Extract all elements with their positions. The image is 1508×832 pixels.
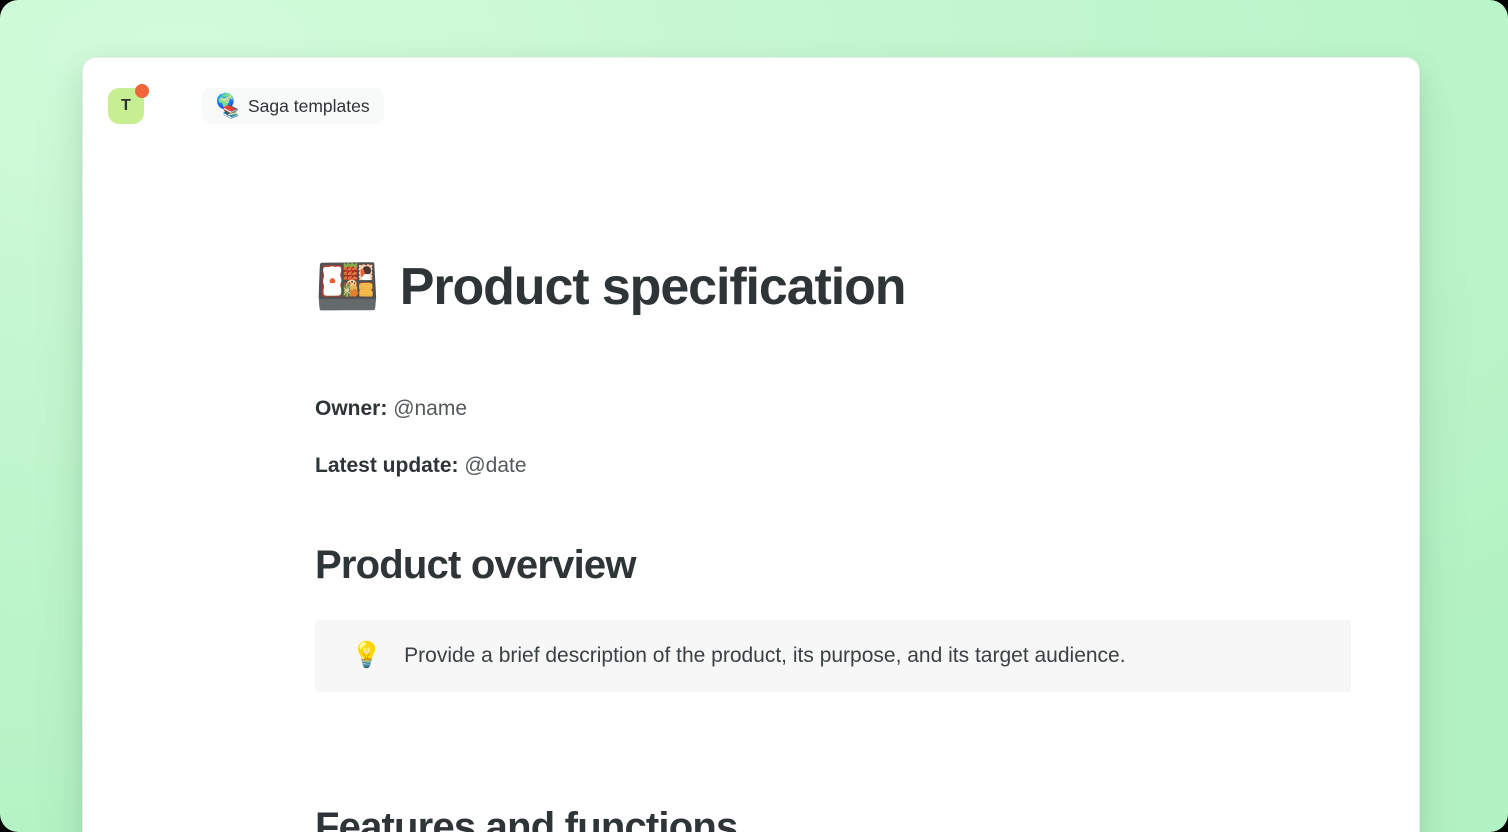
section-heading-features-and-functions[interactable]: Features and functions [315,804,1359,832]
avatar-initial: T [121,97,131,115]
document-metadata: Owner: @name Latest update: @date [315,395,1359,480]
page-background: T 🌍 📚 Saga templates 🍱 Product specifica… [0,0,1508,832]
lightbulb-icon: 💡 [351,643,382,668]
metadata-value-owner[interactable]: @name [393,397,467,420]
notification-dot-icon [135,84,149,98]
metadata-label-latest-update: Latest update: [315,454,459,477]
app-window-card: T 🌍 📚 Saga templates 🍱 Product specifica… [82,57,1420,832]
metadata-row-owner: Owner: @name [315,395,1359,423]
section-heading-product-overview[interactable]: Product overview [315,542,1359,588]
top-bar: T 🌍 📚 Saga templates [83,58,1419,154]
breadcrumb[interactable]: 🌍 📚 Saga templates [202,88,384,124]
page-title-row: 🍱 Product specification [315,258,1359,316]
callout-text[interactable]: Provide a brief description of the produ… [404,641,1125,670]
saga-templates-icon: 🌍 📚 [216,95,238,117]
metadata-value-latest-update[interactable]: @date [464,454,526,477]
metadata-label-owner: Owner: [315,397,387,420]
avatar-container[interactable]: T [108,88,144,124]
stack-layers-icon: 📚 [223,105,239,118]
breadcrumb-label: Saga templates [248,96,370,117]
callout-product-overview[interactable]: 💡 Provide a brief description of the pro… [315,620,1351,692]
document-body: 🍱 Product specification Owner: @name Lat… [83,258,1419,832]
metadata-row-latest-update: Latest update: @date [315,452,1359,480]
page-title[interactable]: Product specification [400,258,906,316]
bento-box-icon[interactable]: 🍱 [315,261,380,313]
